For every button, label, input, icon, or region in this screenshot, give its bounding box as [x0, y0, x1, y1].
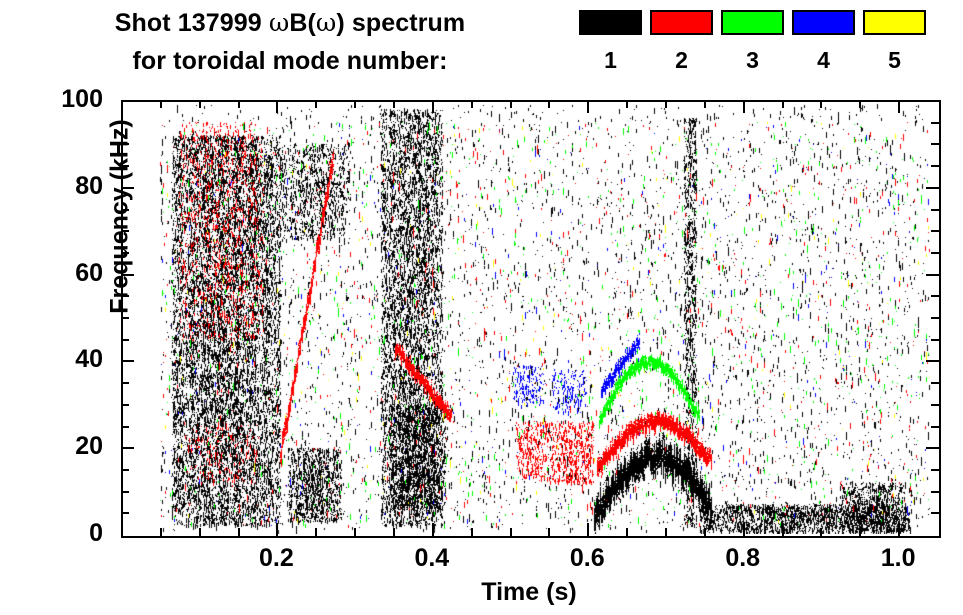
x-tick-minor [393, 528, 395, 536]
y-tick-right [931, 230, 939, 232]
x-tick-minor-top [626, 100, 628, 108]
x-tick-minor [704, 528, 706, 536]
y-tick-right [926, 447, 939, 449]
spectrogram-figure: Shot 137999 ωB(ω) spectrum for toroidal … [0, 0, 963, 615]
x-tick-minor-top [471, 100, 473, 108]
x-tick-minor-top [665, 100, 667, 108]
plot-area: 0.20.40.60.81.0020406080100 Frequency (k… [0, 0, 963, 615]
x-tick-minor [354, 528, 356, 536]
spectrogram-canvas [121, 100, 937, 534]
y-tick [121, 447, 134, 449]
x-tick-minor [238, 528, 240, 536]
x-tick-minor-top [510, 100, 512, 108]
x-tick-minor [276, 523, 278, 536]
x-tick-minor-top [354, 100, 356, 108]
y-tick [121, 469, 129, 471]
y-tick-right [926, 187, 939, 189]
y-axis-title: Frequency (kHz) [106, 92, 135, 342]
y-tick-right [931, 317, 939, 319]
x-tick-minor-top [432, 100, 434, 113]
y-tick-right [931, 491, 939, 493]
x-tick-minor [820, 528, 822, 536]
x-tick-label-0.8: 0.8 [683, 546, 803, 571]
y-tick-label-40: 40 [0, 347, 103, 372]
x-tick-minor-top [315, 100, 317, 108]
y-tick-right [931, 143, 939, 145]
x-tick-label-0.6: 0.6 [527, 546, 647, 571]
y-tick-right [931, 512, 939, 514]
y-tick-right [931, 404, 939, 406]
y-tick-label-80: 80 [0, 174, 103, 199]
x-tick-minor [587, 523, 589, 536]
x-tick-minor-top [782, 100, 784, 108]
y-tick [121, 512, 129, 514]
x-tick-minor [471, 528, 473, 536]
y-tick-right [926, 274, 939, 276]
x-tick-minor [665, 528, 667, 536]
x-tick-minor-top [859, 100, 861, 108]
x-tick-minor [160, 528, 162, 536]
x-tick-minor [432, 523, 434, 536]
y-tick-right [931, 252, 939, 254]
x-tick-minor [859, 528, 861, 536]
x-tick-minor [626, 528, 628, 536]
y-tick-label-0: 0 [0, 521, 103, 546]
y-tick-right [931, 122, 939, 124]
y-tick [121, 404, 129, 406]
x-axis-title: Time (s) [121, 578, 937, 607]
y-tick-right [931, 426, 939, 428]
x-tick-label-0.4: 0.4 [372, 546, 492, 571]
x-tick-minor-top [587, 100, 589, 113]
y-tick-label-60: 60 [0, 261, 103, 286]
x-tick-label-1.0: 1.0 [838, 546, 958, 571]
x-tick-label-0.2: 0.2 [216, 546, 336, 571]
y-tick-right [931, 469, 939, 471]
y-tick-label-100: 100 [0, 87, 103, 112]
x-tick-minor [199, 528, 201, 536]
y-tick [121, 360, 134, 362]
y-tick-right [931, 165, 939, 167]
y-tick-right [931, 382, 939, 384]
x-tick-minor [315, 528, 317, 536]
x-tick-minor-top [898, 100, 900, 113]
x-tick-minor [743, 523, 745, 536]
x-tick-minor-top [743, 100, 745, 113]
x-tick-minor-top [276, 100, 278, 113]
y-tick-right [931, 295, 939, 297]
x-tick-minor [548, 528, 550, 536]
y-tick [121, 426, 129, 428]
x-tick-minor [510, 528, 512, 536]
y-tick-label-20: 20 [0, 434, 103, 459]
x-tick-minor-top [548, 100, 550, 108]
y-tick [121, 382, 129, 384]
x-tick-minor-top [160, 100, 162, 108]
x-tick-minor [898, 523, 900, 536]
x-tick-minor-top [393, 100, 395, 108]
x-tick-minor-top [820, 100, 822, 108]
y-tick-right [926, 360, 939, 362]
y-tick-right [931, 209, 939, 211]
x-tick-minor-top [238, 100, 240, 108]
x-tick-minor-top [704, 100, 706, 108]
x-tick-minor [782, 528, 784, 536]
y-tick-right [931, 339, 939, 341]
x-tick-minor-top [199, 100, 201, 108]
y-tick [121, 491, 129, 493]
